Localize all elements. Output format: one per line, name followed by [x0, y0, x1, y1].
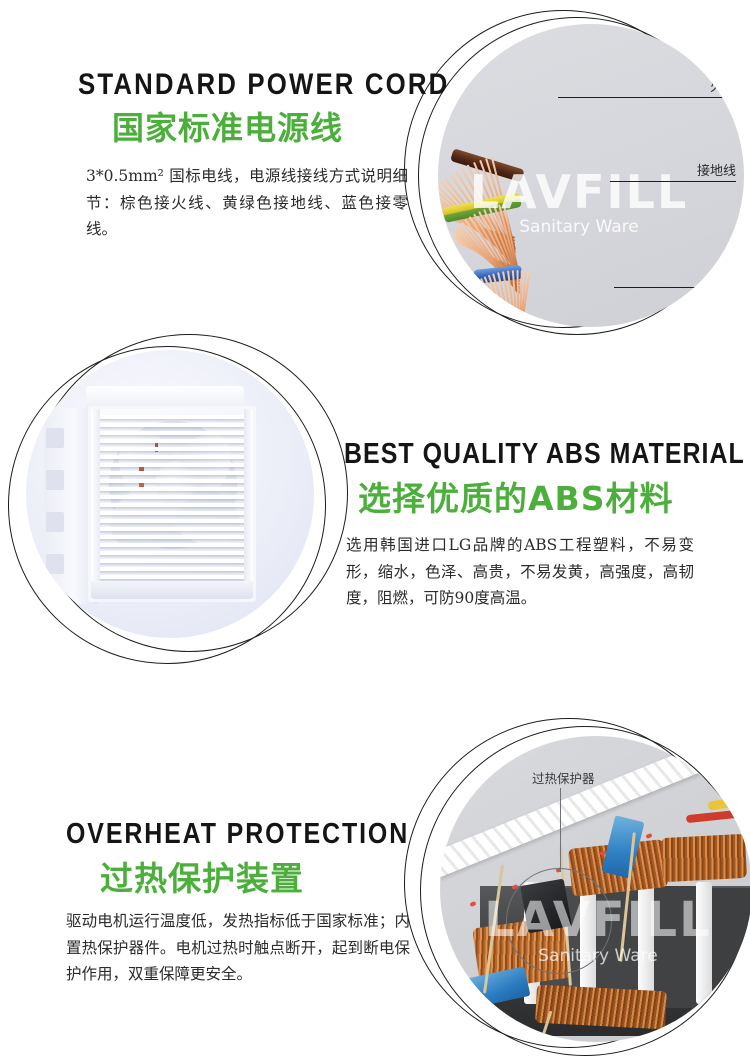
- ground-cord: [444, 184, 594, 244]
- abs-cn-wrap: 选择优质的ABS材料: [358, 472, 750, 520]
- sleeve-marking: [645, 833, 652, 839]
- label-neutral-wire-text: 零线: [710, 266, 736, 285]
- abs-eng-title: BEST QUALITY ABS MATERIAL: [344, 438, 697, 471]
- power-cord-text-block: STANDARD POWER CORD: [78, 68, 428, 102]
- overheat-protector-label: 过热保护器: [532, 768, 595, 787]
- power-cord-cn-title: 国家标准电源线: [112, 103, 442, 149]
- fan-photo-frame: [8, 334, 348, 664]
- fan-side-vent: [46, 470, 64, 490]
- fan-side-vent: [46, 554, 64, 574]
- overheat-body: 驱动电机运行温度低，发热指标低于国家标准；内置热保护器件。电机过热时触点断开，起…: [66, 908, 410, 988]
- power-cord-eng-title: STANDARD POWER CORD: [78, 68, 379, 102]
- lead-wire-red: [686, 809, 748, 823]
- overheat-cn-title: 过热保护装置: [100, 852, 440, 900]
- copper-winding: [661, 834, 747, 882]
- overheat-text-block: OVERHEAT PROTECTION: [66, 818, 426, 851]
- abs-cn-title: 选择优质的ABS材料: [358, 472, 750, 520]
- slot-insulator: [638, 880, 654, 1006]
- power-cord-cn-wrap: 国家标准电源线: [112, 103, 442, 149]
- overheat-cn-wrap: 过热保护装置: [100, 852, 440, 900]
- live-cord: [452, 120, 572, 180]
- overheat-protector-callout-line: [560, 788, 561, 872]
- abs-text-block: BEST QUALITY ABS MATERIAL: [344, 438, 750, 471]
- stator-tooth: [650, 886, 698, 1008]
- label-neutral-wire: 零线: [614, 266, 736, 288]
- copper-winding: [535, 985, 667, 1030]
- slot-insulator: [696, 882, 712, 1004]
- stator-tooth: [706, 888, 750, 1004]
- fan-side-vent: [46, 512, 64, 532]
- motor-photo-frame: 过热保护器 LAVFILL Sanitary Ware: [404, 718, 750, 1058]
- motor-photo: 过热保护器 LAVFILL Sanitary Ware: [440, 736, 750, 1042]
- fan-side-vent: [46, 428, 64, 448]
- power-cord-body: 3*0.5mm² 国标电线，电源线接线方式说明细节：棕色接火线、黄绿色接地线、蓝…: [86, 163, 408, 243]
- label-ground-wire: 接地线: [610, 160, 736, 182]
- overheat-eng-title: OVERHEAT PROTECTION: [66, 818, 376, 851]
- neutral-cord: [474, 256, 624, 316]
- sleeve-marking: [469, 901, 476, 907]
- label-ground-wire-text: 接地线: [697, 160, 736, 179]
- power-cord-photo: LAVFILL Sanitary Ware 火线 接地线 零线: [438, 24, 744, 327]
- fan-photo: [26, 350, 314, 638]
- power-cord-photo-frame: LAVFILL Sanitary Ware 火线 接地线 零线: [404, 10, 750, 330]
- label-live-wire-text: 火线: [710, 76, 736, 95]
- overheat-protector-callout-circle: [506, 868, 612, 974]
- abs-body: 选用韩国进口LG品牌的ABS工程塑料，不易变形，缩水，色泽、高贵，不易发黄，高强…: [346, 532, 694, 612]
- label-live-wire: 火线: [558, 76, 736, 98]
- fan-front-frame: [88, 406, 256, 602]
